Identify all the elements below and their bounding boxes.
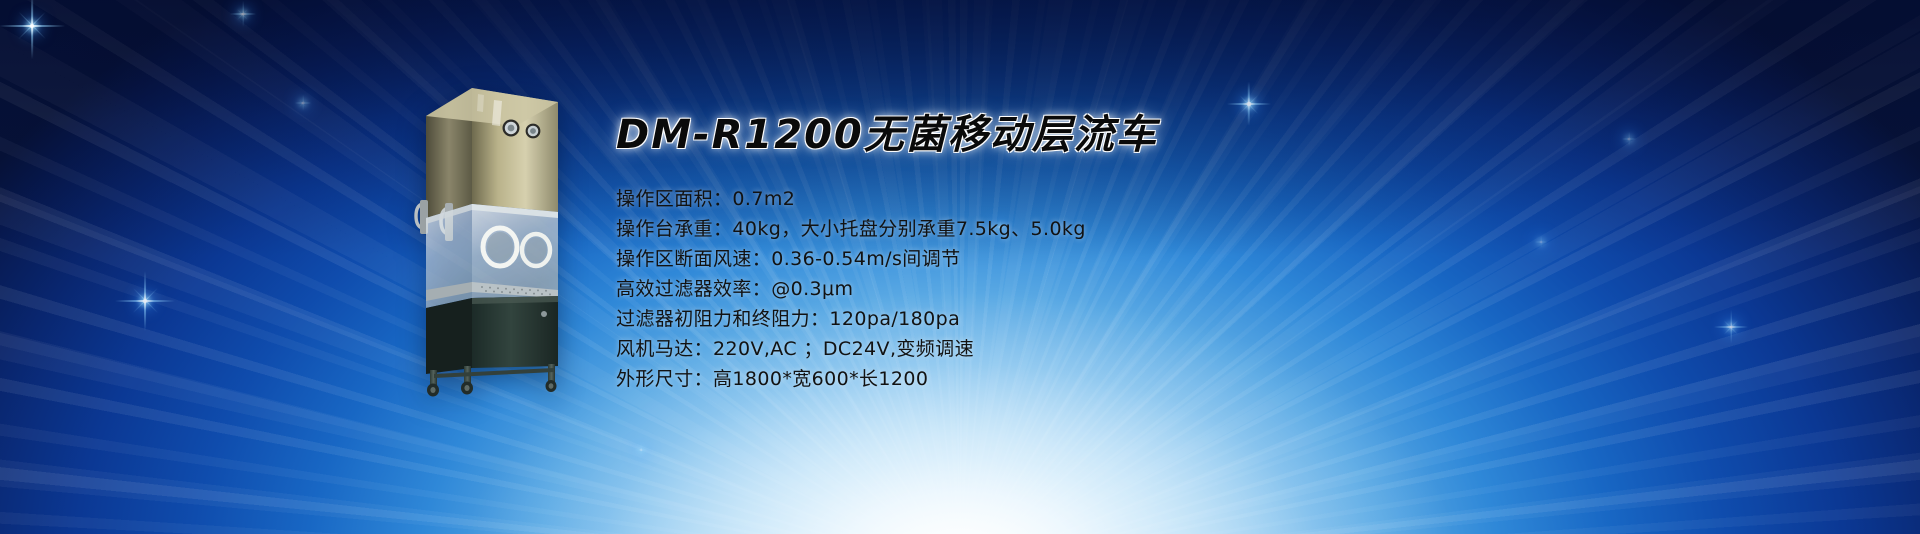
spec-line: 风机马达：220V,AC ；DC24V,变频调速	[616, 334, 1666, 364]
spec-line: 外形尺寸：高1800*宽600*长1200	[616, 364, 1666, 394]
product-photo	[408, 82, 578, 400]
spec-list: 操作区面积：0.7m2操作台承重：40kg，大小托盘分别承重7.5kg、5.0k…	[616, 184, 1666, 394]
page-title: DM-R1200无菌移动层流车	[616, 112, 1666, 158]
spec-line: 操作区面积：0.7m2	[616, 184, 1666, 214]
spec-line: 过滤器初阻力和终阻力：120pa/180pa	[616, 304, 1666, 334]
spec-line: 操作区断面风速：0.36-0.54m/s间调节	[616, 244, 1666, 274]
spec-line: 高效过滤器效率：@0.3μm	[616, 274, 1666, 304]
copy-block: DM-R1200无菌移动层流车 操作区面积：0.7m2操作台承重：40kg，大小…	[616, 112, 1666, 394]
spec-line: 操作台承重：40kg，大小托盘分别承重7.5kg、5.0kg	[616, 214, 1666, 244]
product-banner: DM-R1200无菌移动层流车 操作区面积：0.7m2操作台承重：40kg，大小…	[0, 0, 1920, 534]
